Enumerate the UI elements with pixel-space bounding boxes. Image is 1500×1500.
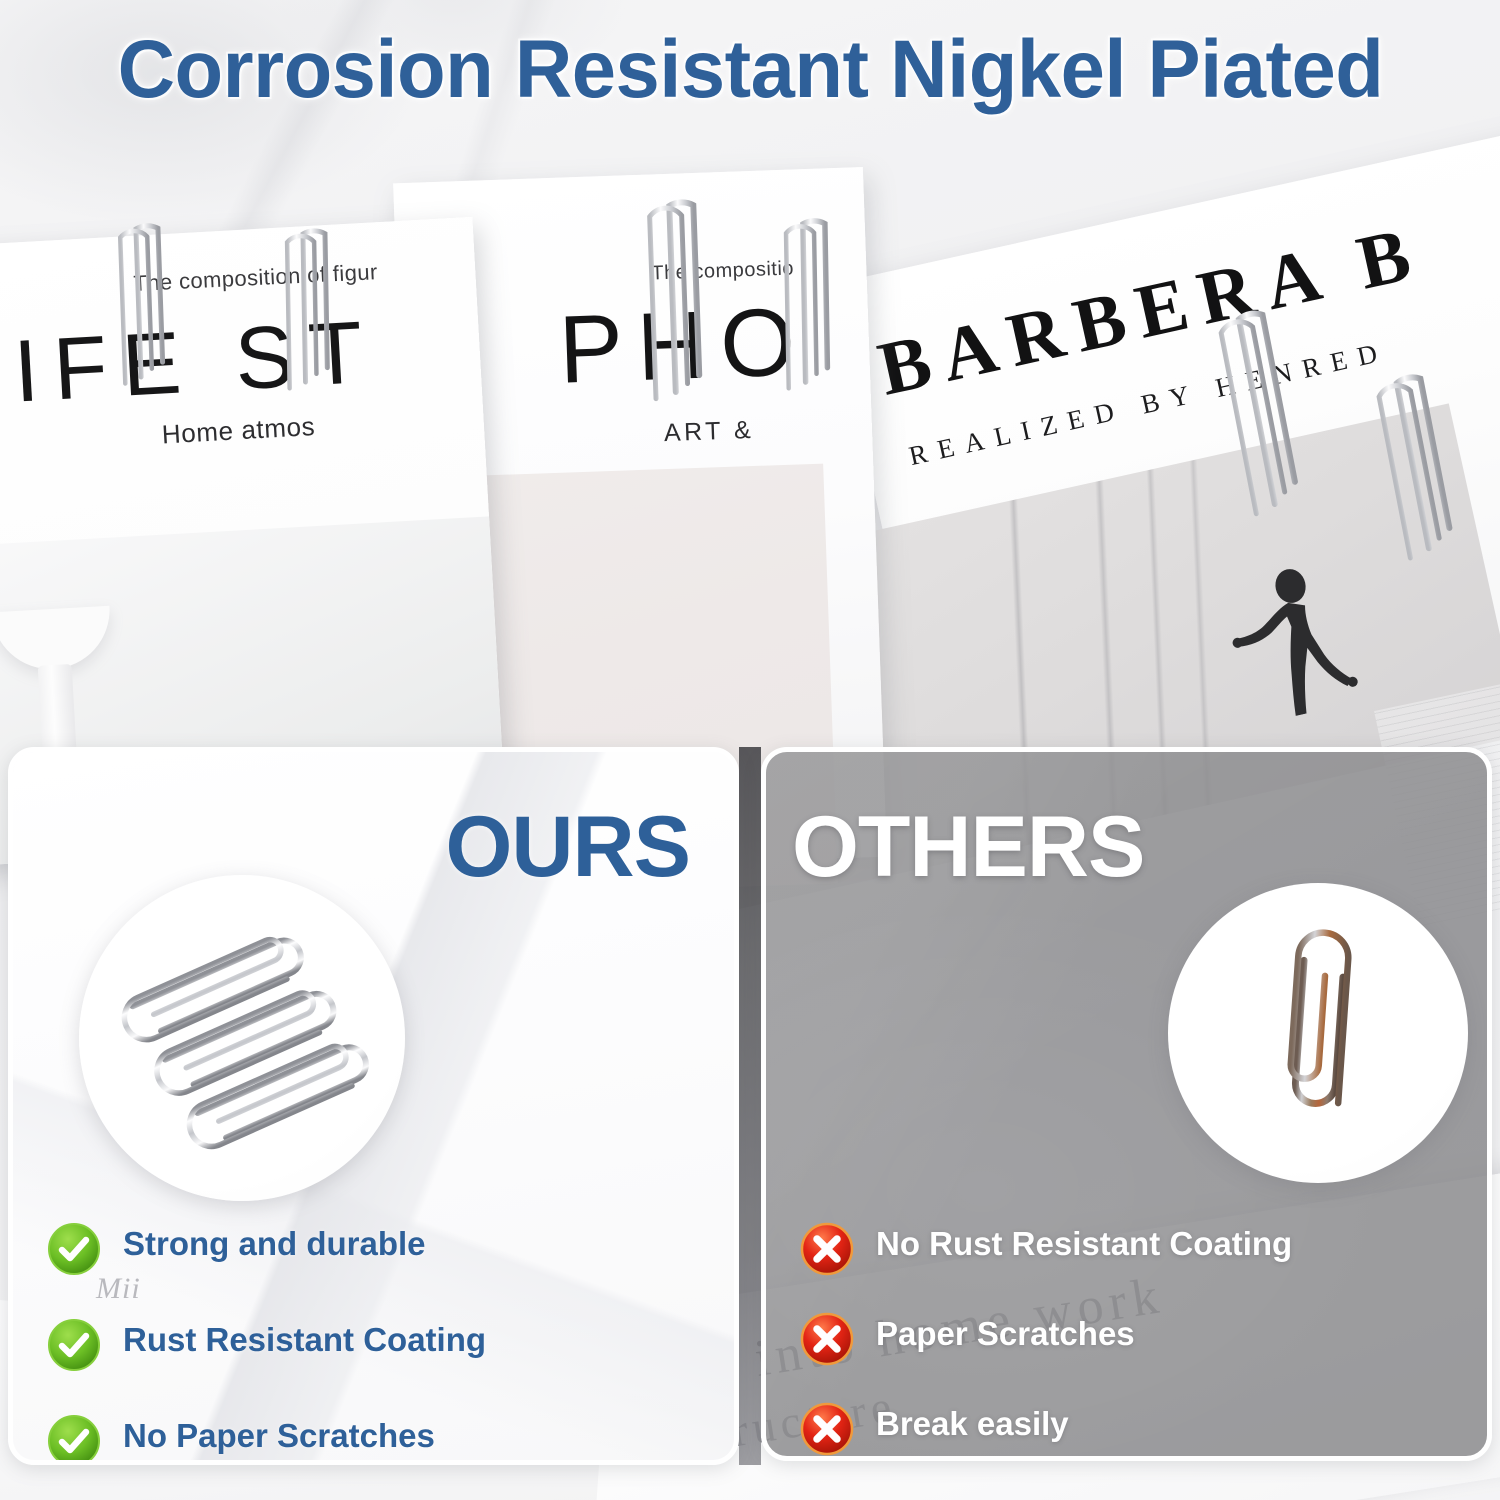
silver-paperclips-group-icon [84, 889, 400, 1187]
magazine-left-subline: Home atmos [161, 411, 316, 451]
list-item: Break easily [800, 1400, 1460, 1456]
list-item: No Rust Resistant Coating [800, 1220, 1460, 1276]
drawbacks-list-others: No Rust Resistant Coating Paper Scratche… [800, 1220, 1460, 1461]
check-icon [47, 1414, 101, 1465]
title-band: Corrosion Resistant Nigkel Piated [0, 0, 1500, 140]
check-icon [47, 1318, 101, 1372]
cross-icon [800, 1312, 854, 1366]
panel-ours: OURS [8, 747, 739, 1465]
product-image-others [1168, 883, 1468, 1183]
drawback-label: Paper Scratches [876, 1310, 1135, 1353]
heading-others: OTHERS [792, 804, 1144, 890]
background-paperclip-1 [99, 192, 178, 384]
benefit-label: Strong and durable [123, 1220, 426, 1263]
heading-ours: OURS [446, 804, 690, 890]
benefit-label: Rust Resistant Coating [123, 1316, 486, 1359]
background-paperclip-2 [266, 197, 341, 388]
rusty-paperclip-icon [1255, 912, 1381, 1154]
magazine-middle-subline: ART & [663, 416, 754, 448]
drawback-label: No Rust Resistant Coating [876, 1220, 1292, 1263]
background-paperclip-4 [766, 187, 841, 388]
list-item: Strong and durable [47, 1220, 687, 1276]
infographic-canvas: Delvi into home work structure BARBERA [0, 0, 1500, 1500]
check-icon [47, 1222, 101, 1276]
list-item: No Paper Scratches [47, 1412, 687, 1465]
benefit-label: No Paper Scratches [123, 1412, 435, 1455]
cross-icon [800, 1402, 854, 1456]
panel-divider [739, 747, 761, 1465]
background-scrap-text: Mii [96, 1272, 141, 1306]
page-title: Corrosion Resistant Nigkel Piated [117, 23, 1383, 117]
product-image-ours [79, 875, 405, 1201]
drawback-label: Break easily [876, 1400, 1069, 1443]
list-item: Paper Scratches [800, 1310, 1460, 1366]
background-paperclip-3 [628, 167, 716, 400]
list-item: Rust Resistant Coating [47, 1316, 687, 1372]
cross-icon [800, 1222, 854, 1276]
panel-others: OTHERS [761, 747, 1492, 1461]
benefits-list-ours: Strong and durable Rust Resistant Coatin… [47, 1220, 687, 1465]
